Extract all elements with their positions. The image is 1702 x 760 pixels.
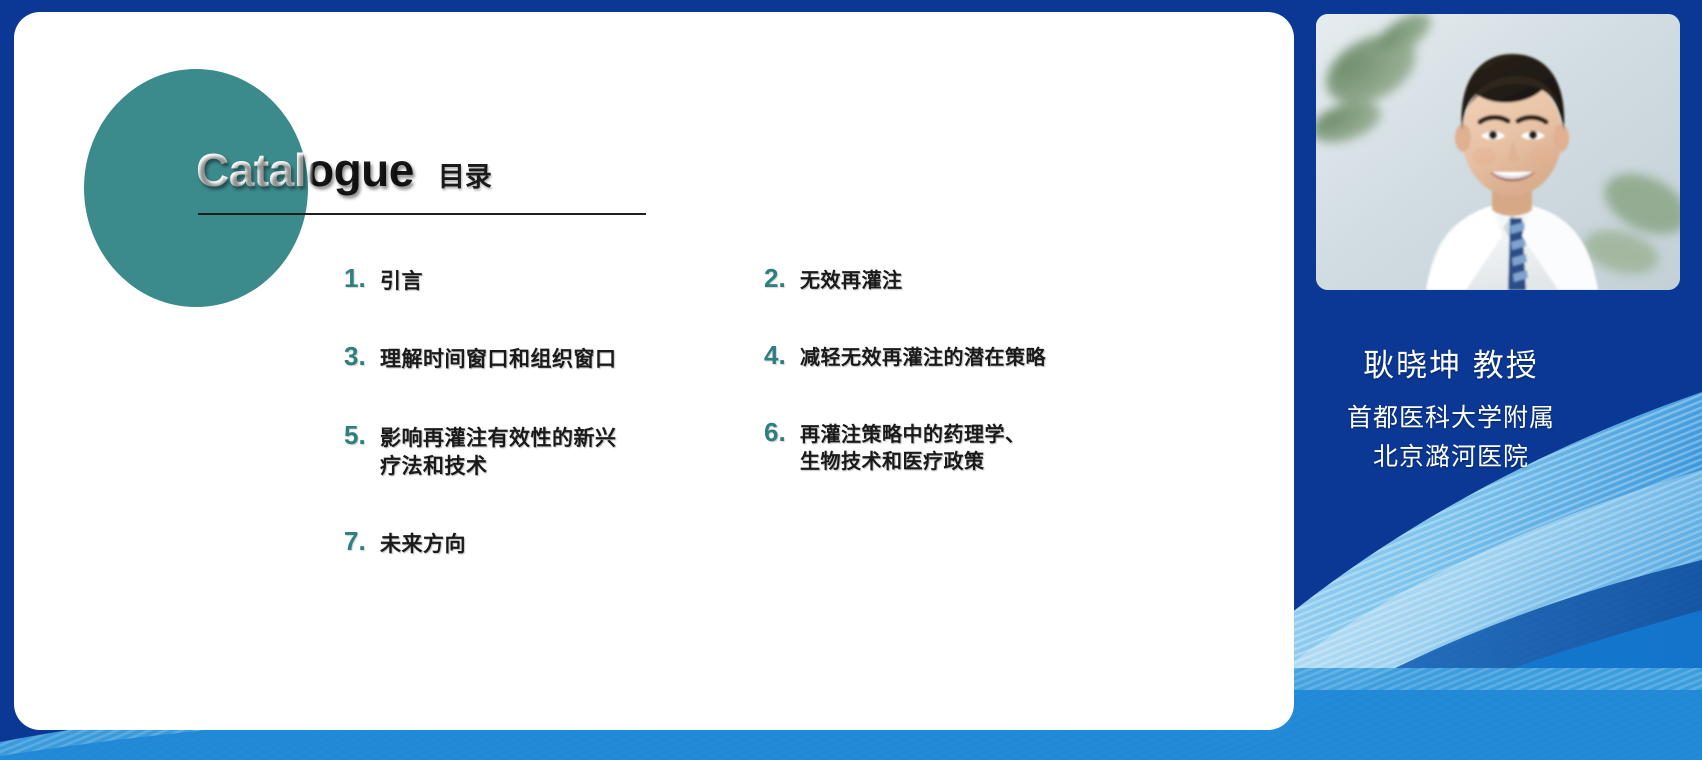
speaker-portrait-image (1316, 14, 1680, 290)
catalogue-item-label: 影响再灌注有效性的新兴 疗法和技术 (380, 421, 617, 482)
catalogue-column-left: 1. 引言 3. 理解时间窗口和组织窗口 5. 影响再灌注有效性的新兴 疗法和技… (344, 264, 764, 606)
title-english: Catalogue (196, 143, 414, 197)
catalogue-item-label: 减轻无效再灌注的潜在策略 (800, 341, 1046, 372)
catalogue-item-number: 3. (344, 342, 380, 372)
presentation-slide: Catalogue 目录 1. 引言 3. 理解时间窗口和组织窗口 5. 影响再… (0, 0, 1702, 760)
catalogue-item-label: 理解时间窗口和组织窗口 (380, 342, 617, 374)
catalogue-item-number: 5. (344, 421, 380, 451)
catalogue-item-number: 7. (344, 527, 380, 557)
catalogue-list: 1. 引言 3. 理解时间窗口和组织窗口 5. 影响再灌注有效性的新兴 疗法和技… (344, 264, 1244, 624)
catalogue-item-label: 未来方向 (380, 527, 466, 559)
catalogue-item-number: 2. (764, 264, 800, 294)
speaker-photo (1316, 14, 1680, 290)
catalogue-item-number: 6. (764, 418, 800, 448)
title-underline (198, 213, 646, 215)
catalogue-column-right: 2. 无效再灌注 4. 减轻无效再灌注的潜在策略 6. 再灌注策略中的药理学、 … (764, 264, 1184, 522)
title-chinese: 目录 (438, 155, 492, 194)
catalogue-item-label: 无效再灌注 (800, 264, 903, 295)
catalogue-item-number: 1. (344, 264, 380, 294)
speaker-affiliation-line1: 首都医科大学附属 (1200, 399, 1702, 438)
catalogue-item[interactable]: 5. 影响再灌注有效性的新兴 疗法和技术 (344, 421, 764, 482)
catalogue-item[interactable]: 3. 理解时间窗口和组织窗口 (344, 342, 764, 374)
catalogue-item[interactable]: 4. 减轻无效再灌注的潜在策略 (764, 341, 1184, 372)
speaker-name: 耿晓坤 教授 (1200, 340, 1702, 385)
catalogue-item-label: 再灌注策略中的药理学、 生物技术和医疗政策 (800, 418, 1026, 476)
speaker-affiliation-line2: 北京潞河医院 (1200, 438, 1702, 477)
catalogue-item-number: 4. (764, 341, 800, 371)
catalogue-item[interactable]: 6. 再灌注策略中的药理学、 生物技术和医疗政策 (764, 418, 1184, 476)
catalogue-item[interactable]: 2. 无效再灌注 (764, 264, 1184, 295)
content-card: Catalogue 目录 1. 引言 3. 理解时间窗口和组织窗口 5. 影响再… (14, 12, 1294, 730)
slide-title: Catalogue 目录 (196, 143, 666, 223)
catalogue-item-label: 引言 (380, 264, 423, 296)
speaker-info: 耿晓坤 教授 首都医科大学附属 北京潞河医院 (1200, 340, 1702, 477)
catalogue-item[interactable]: 1. 引言 (344, 264, 764, 296)
catalogue-item[interactable]: 7. 未来方向 (344, 527, 764, 559)
